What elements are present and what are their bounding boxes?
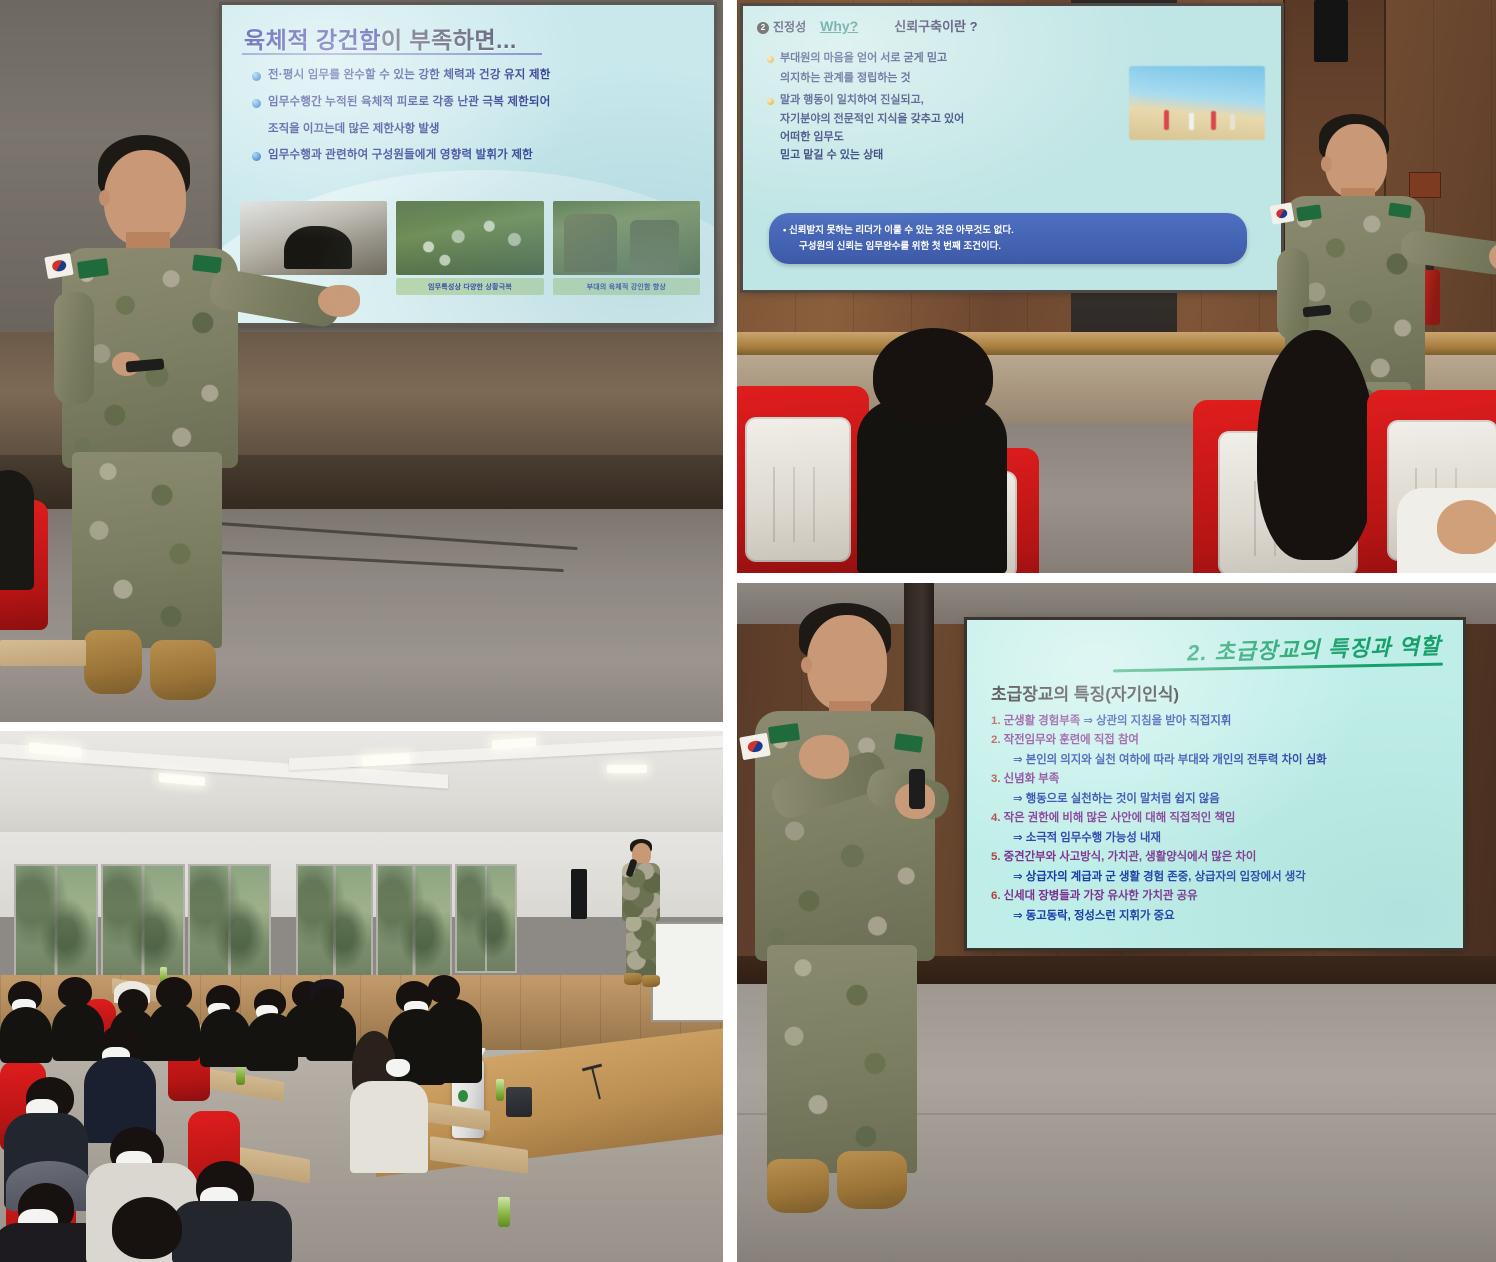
audience-person-body (306, 1005, 356, 1061)
window-band (0, 864, 723, 981)
korean-flag-patch (739, 733, 771, 761)
legs-uniform (72, 452, 222, 648)
item-text: 신념화 부족 (1001, 773, 1060, 785)
photo-top-left: 육체적 강건함이 부족하면... 전·평시 임무를 완수할 수 있는 강한 체력… (0, 0, 723, 722)
slide2-extra-line: 믿고 맡길 수 있는 상태 (780, 147, 1087, 165)
ear (1321, 156, 1332, 172)
item-number: 2. (991, 734, 1001, 746)
item-text: 작은 권한에 비해 많은 사안에 대해 직접적인 책임 (1001, 812, 1236, 824)
slide2-question: 신뢰구축이란 ? (894, 16, 977, 35)
audience-seat (737, 386, 869, 573)
loudspeaker-icon (571, 869, 587, 919)
photo-bottom-right: 2. 초급장교의 특징과 역할 초급장교의 특징(자기인식) 1. 군생활 경험… (737, 583, 1496, 1262)
item-number: 3. (991, 773, 1001, 785)
photo-collage: 육체적 강건함이 부족하면... 전·평시 임무를 완수할 수 있는 강한 체력… (0, 0, 1496, 1262)
water-bottle (496, 1079, 504, 1101)
item-number: 4. (991, 812, 1001, 824)
thumbnail-image-sitting-soldier (240, 201, 387, 275)
slide2-bullet: 말과 행동이 일치하여 진실되고, (767, 92, 1087, 110)
slide2-callout-box: • 신뢰받지 못하는 리더가 이룰 수 있는 것은 아무것도 없다. 구성원의 … (769, 213, 1247, 264)
arm-left (1277, 248, 1309, 340)
window (101, 864, 185, 985)
slide2-extra-line: 어떠한 임무도 (780, 129, 1087, 147)
window (296, 864, 372, 985)
hand-gesture (799, 735, 849, 779)
thumbnail-image-river-training (396, 201, 543, 275)
slide1-bullet-text: 임무수행과 관련하여 구성원들에게 영향력 발휘가 제한 (268, 147, 533, 165)
item-text: 군생활 경험부족 (1001, 715, 1084, 727)
slide1-title-strong: 육체적 강건함 (244, 27, 381, 53)
item-number: 5. (991, 851, 1001, 863)
thumbnail-caption: 부대의 육체적 강인함 향상 (553, 278, 700, 295)
window (14, 864, 98, 985)
ear (99, 190, 110, 206)
photo-figure (1211, 111, 1216, 130)
slide1-bullet: 임무수행과 관련하여 구성원들에게 영향력 발휘가 제한 (252, 147, 692, 165)
slide2-number-badge: 2 (757, 22, 769, 34)
slide2-label-text: 진정성 (773, 20, 806, 34)
hand-pointing (318, 285, 360, 317)
audience-person-body (148, 1003, 200, 1061)
slide3-item-arrow: ⇒ 동고동락, 정성스런 지휘가 중요 (1013, 907, 1449, 925)
slide2-bullet-list: 부대원의 마음을 얻어 서로 굳게 믿고 의지하는 관계를 정립하는 것 말과 … (767, 50, 1087, 165)
audience-person-body (424, 999, 482, 1083)
korean-flag-patch (1270, 202, 1295, 225)
fire-safety-sign (1409, 172, 1441, 198)
boot (624, 973, 642, 985)
slide1-title: 육체적 강건함이 부족하면... (244, 21, 517, 55)
audience-person-body (200, 1009, 250, 1067)
slide3-item-arrow: ⇒ 본인의 의지와 실천 여하에 따라 부대와 개인의 전투력 차이 심화 (1013, 751, 1449, 769)
bullet-dot-icon (252, 152, 261, 161)
slide1-title-rule (242, 53, 542, 55)
photo-figure (1164, 110, 1169, 130)
projection-screen-slide-3: 2. 초급장교의 특징과 역할 초급장교의 특징(자기인식) 1. 군생활 경험… (967, 620, 1463, 948)
audience-person-body (172, 1201, 292, 1262)
boot (642, 975, 660, 987)
foreground-person-head (112, 1197, 182, 1259)
slide2-heading: 2진정성 Why? 신뢰구축이란 ? (757, 16, 978, 35)
ceiling-light (607, 765, 647, 773)
slide3-item-arrow: ⇒ 행동으로 실천하는 것이 말처럼 쉽지 않음 (1013, 790, 1449, 808)
photo-figure (1230, 114, 1235, 130)
window (376, 864, 452, 985)
legs-uniform (626, 917, 656, 979)
slide3-item: 2. 작전임무와 훈련에 직접 참여 (991, 731, 1449, 749)
korean-flag-patch (44, 253, 73, 279)
slide2-why: Why? (820, 18, 858, 34)
slide3-subtitle: 초급장교의 특징(자기인식) (991, 680, 1179, 705)
head (1325, 124, 1387, 198)
slide1-bullet-subline: 조직을 이끄는데 많은 제한사항 발생 (268, 121, 692, 139)
ear (801, 657, 812, 673)
boot-left (84, 630, 142, 694)
bullet-dot-icon (767, 56, 774, 63)
legs-uniform (767, 945, 917, 1173)
bullet-dot-icon (767, 98, 774, 105)
slide3-item: 3. 신념화 부족 (991, 770, 1449, 788)
slide1-bullet: 전·평시 임무를 완수할 수 있는 강한 체력과 건강 유지 제한 (252, 67, 692, 85)
photo-top-right: 2진정성 Why? 신뢰구축이란 ? 부대원의 마음을 얻어 서로 굳게 믿고 … (737, 0, 1496, 573)
slide3-item-arrow: ⇒ 소극적 임무수행 가능성 내재 (1013, 829, 1449, 847)
audience-person-body (857, 400, 1007, 573)
audience-person-body (350, 1081, 428, 1173)
slide1-bullet-text: 임무수행간 누적된 육체적 피로로 각종 난관 극복 제한되어 (268, 94, 550, 112)
bullet-dot-icon (252, 99, 261, 108)
item-arrow-inline: ⇒ 상관의 지침을 받아 직접지휘 (1083, 715, 1231, 727)
slide2-beach-photo (1129, 66, 1265, 140)
item-text: 중견간부와 사고방식, 가치관, 생활양식에서 많은 차이 (1001, 851, 1257, 863)
item-text: 신세대 장병들과 가장 유사한 가치관 공유 (1001, 890, 1198, 902)
audience-person-head-long-hair (1257, 330, 1375, 560)
slide1-bullet-text: 전·평시 임무를 완수할 수 있는 강한 체력과 건강 유지 제한 (268, 67, 551, 85)
projection-screen-slide-1: 육체적 강건함이 부족하면... 전·평시 임무를 완수할 수 있는 강한 체력… (222, 5, 714, 323)
slide2-bullet-line2: 의지하는 관계를 정립하는 것 (780, 70, 1087, 88)
presentation-clicker-icon (909, 769, 925, 809)
audience-person-head (1437, 500, 1496, 554)
slide3-item-list: 1. 군생활 경험부족 ⇒ 상관의 지침을 받아 직접지휘 2. 작전임무와 훈… (991, 712, 1449, 926)
item-number: 1. (991, 715, 1001, 727)
item-number: 6. (991, 890, 1001, 902)
slide1-thumbnail: 부대의 육체적 강인함 향상 (553, 201, 700, 295)
audience-person-head (873, 328, 993, 424)
whiteboard (651, 922, 723, 1022)
audience-person-body (52, 1003, 104, 1061)
slide1-bullet-list: 전·평시 임무를 완수할 수 있는 강한 체력과 건강 유지 제한 임무수행간 … (252, 67, 692, 174)
slide1-thumbnail: 임무특성상 다양한 상황극복 (396, 201, 543, 295)
boot-right (837, 1151, 907, 1209)
thumbnail-image-soldiers (553, 201, 700, 275)
projection-screen-slide-2: 2진정성 Why? 신뢰구축이란 ? 부대원의 마음을 얻어 서로 굳게 믿고 … (743, 6, 1281, 290)
bullet-dot-icon (252, 72, 261, 81)
arm-left (54, 292, 94, 404)
slide2-callout-line2: 구성원의 신뢰는 임무완수를 위한 첫 번째 조건이다. (799, 239, 1233, 254)
slide2-callout-line1: • 신뢰받지 못하는 리더가 이룰 수 있는 것은 아무것도 없다. (783, 223, 1233, 238)
face-mask (386, 1059, 410, 1077)
stage-chair (506, 1087, 532, 1117)
slide2-bullet: 부대원의 마음을 얻어 서로 굳게 믿고 (767, 50, 1087, 68)
window (188, 864, 272, 985)
boot-right (150, 640, 216, 700)
slide1-bullet: 임무수행간 누적된 육체적 피로로 각종 난관 극복 제한되어 (252, 94, 692, 112)
head (807, 615, 887, 711)
slide3-item: 4. 작은 권한에 비해 많은 사안에 대해 직접적인 책임 (991, 809, 1449, 827)
slide2-heading-label: 2진정성 (757, 18, 806, 35)
slide2-bullet-line2: 자기분야의 전문적인 지식을 갖추고 있어 (780, 111, 1087, 129)
slide1-thumbnail-row: 임무특성상 다양한 상황극복 부대의 육체적 강인함 향상 (240, 201, 700, 295)
slide2-bullet-line1: 부대원의 마음을 얻어 서로 굳게 믿고 (780, 50, 947, 68)
rank-insignia-right (192, 254, 222, 273)
slide3-item: 6. 신세대 장병들과 가장 유사한 가치관 공유 (991, 887, 1449, 905)
slide3-item: 1. 군생활 경험부족 ⇒ 상관의 지침을 받아 직접지휘 (991, 712, 1449, 730)
audience-person-body (0, 1007, 52, 1063)
slide1-title-rest: 이 부족하면... (381, 27, 517, 53)
loudspeaker-icon (1314, 0, 1348, 62)
seat-pad (745, 417, 850, 562)
item-text: 작전임무와 훈련에 직접 참여 (1001, 734, 1139, 746)
lectern-logo-icon (458, 1090, 468, 1102)
photo-figure (1189, 113, 1194, 130)
water-bottle (498, 1197, 510, 1227)
slide3-item-arrow: ⇒ 상급자의 계급과 군 생활 경험 존중, 상급자의 입장에서 생각 (1013, 868, 1449, 886)
audience-desk (0, 640, 86, 666)
window (455, 864, 517, 973)
slide3-handwritten-title: 2. 초급장교의 특징과 역할 (1187, 628, 1442, 667)
boot-left (767, 1159, 829, 1213)
slide2-bullet-line1: 말과 행동이 일치하여 진실되고, (780, 92, 924, 110)
photo-bottom-left (0, 731, 723, 1262)
audience-person (0, 470, 34, 590)
slide3-item: 5. 중견간부와 사고방식, 가치관, 생활양식에서 많은 차이 (991, 848, 1449, 866)
thumbnail-caption: 임무특성상 다양한 상황극복 (396, 278, 543, 295)
